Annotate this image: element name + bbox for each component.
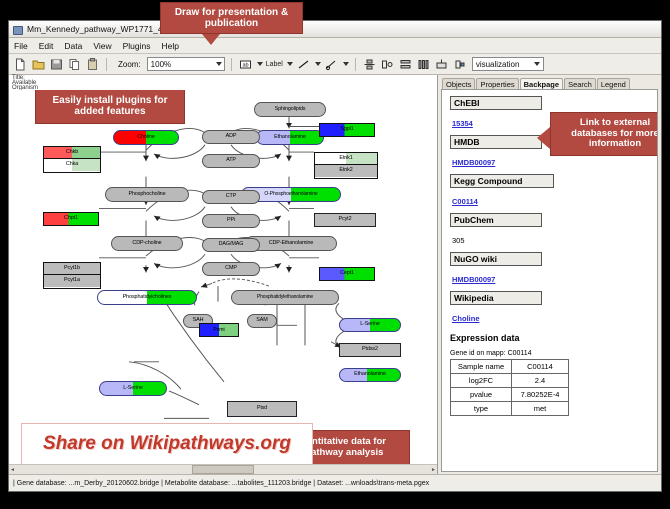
menu-plugins[interactable]: Plugins — [122, 41, 152, 51]
node-ethanolamine-right[interactable]: Ethanolamine — [339, 368, 401, 382]
status-bar: | Gene database: ...m_Derby_20120602.bri… — [9, 474, 661, 491]
toolbar: Zoom: 100% ab Label — [9, 54, 661, 75]
node-sam[interactable]: SAM — [247, 314, 277, 328]
menu-data[interactable]: Data — [63, 41, 83, 51]
backpage-content: ChEBI 15354 HMDB HMDB00097 Kegg Compound… — [441, 89, 658, 472]
copy-icon[interactable] — [67, 57, 82, 72]
gene-etnk2[interactable]: Etnk2 — [315, 165, 377, 177]
menu-help[interactable]: Help — [161, 41, 180, 51]
toolbar-separator — [106, 58, 107, 71]
callout-plugins: Easily install plugins for added feature… — [35, 90, 185, 124]
callout-draw: Draw for presentation & publication — [160, 2, 303, 34]
open-icon[interactable] — [31, 57, 46, 72]
node-cdp-choline[interactable]: CDP-choline — [111, 236, 183, 251]
gene-pcyt1b[interactable]: Pcyt1b — [44, 263, 100, 275]
gene-pisd[interactable]: Pisd — [227, 401, 297, 417]
distribute-icon[interactable] — [416, 57, 431, 72]
gene-chpt1[interactable]: Chpt1 — [43, 212, 99, 226]
callout-share-text: Share on Wikipathways.org — [43, 433, 291, 455]
section-header-wikipedia: Wikipedia — [450, 291, 542, 305]
section-header-chebi: ChEBI — [450, 96, 542, 110]
callout-draw-arrow — [202, 34, 220, 45]
cell-value: 2.4 — [512, 374, 569, 388]
main-content: Title: Available Organism — [9, 75, 661, 474]
node-cmp[interactable]: CMP — [202, 262, 260, 276]
node-atp[interactable]: ATP — [202, 154, 260, 168]
node-phosphatidylethanolamine[interactable]: Phosphatidylethanolamine — [231, 290, 339, 305]
group-icon[interactable] — [380, 57, 395, 72]
tab-properties[interactable]: Properties — [476, 78, 518, 89]
node-sphingolipids[interactable]: Sphingolipids — [254, 102, 326, 117]
zoom-value: 100% — [151, 60, 171, 69]
label-dropdown-icon[interactable] — [286, 57, 293, 71]
hmdb-link[interactable]: HMDB00097 — [452, 158, 495, 167]
visualization-value: visualization — [476, 60, 520, 69]
tab-objects[interactable]: Objects — [442, 78, 475, 89]
expression-data-title: Expression data — [450, 333, 657, 343]
sendback-icon[interactable] — [452, 57, 467, 72]
gene-pcyt1a[interactable]: Pcyt1a — [44, 275, 100, 287]
align-icon[interactable] — [362, 57, 377, 72]
section-header-hmdb: HMDB — [450, 135, 542, 149]
gene-group-etnk[interactable]: Etnk1 Etnk2 — [314, 152, 378, 179]
menu-bar: File Edit Data View Plugins Help — [9, 38, 661, 54]
node-phosphatidylcholines[interactable]: Phosphatidylcholines — [97, 290, 197, 305]
gene-sgpl1[interactable]: Sgpl1 — [319, 123, 375, 137]
menu-file[interactable]: File — [13, 41, 29, 51]
tab-search[interactable]: Search — [564, 78, 596, 89]
gene-chka[interactable]: Chka — [44, 159, 100, 171]
node-ppi[interactable]: PPi — [202, 214, 260, 228]
gene-group-pcyt1[interactable]: Pcyt1b Pcyt1a — [43, 262, 101, 289]
gene-pemt[interactable]: Pemt — [199, 323, 239, 337]
cell-value: 7.80252E-4 — [512, 388, 569, 402]
table-row: pvalue 7.80252E-4 — [451, 388, 569, 402]
paste-icon[interactable] — [85, 57, 100, 72]
datanode-icon[interactable]: ab — [238, 57, 253, 72]
line-icon[interactable] — [296, 57, 311, 72]
section-header-nugo: NuGO wiki — [450, 252, 542, 266]
gene-etnk1[interactable]: Etnk1 — [315, 153, 377, 165]
cell-key: type — [451, 402, 512, 416]
node-l-serine-right[interactable]: L-Serine — [339, 318, 401, 332]
side-panel-tabs: Objects Properties Backpage Search Legen… — [438, 75, 661, 89]
menu-edit[interactable]: Edit — [38, 41, 55, 51]
pathway-canvas[interactable]: Sphingolipids Choline Ethanolamine ADP A… — [9, 90, 437, 464]
tab-legend[interactable]: Legend — [597, 78, 630, 89]
cell-value: C00114 — [512, 360, 569, 374]
table-row: Sample name C00114 — [451, 360, 569, 374]
kegg-link[interactable]: C00114 — [452, 197, 478, 206]
node-l-serine-left[interactable]: L-Serine — [99, 381, 167, 396]
cell-key: Sample name — [451, 360, 512, 374]
table-row: log2FC 2.4 — [451, 374, 569, 388]
zoom-label: Zoom: — [118, 60, 141, 69]
side-panel: Objects Properties Backpage Search Legen… — [438, 75, 661, 474]
callout-links-arrow — [537, 127, 550, 149]
gene-chkb[interactable]: Chkb — [44, 147, 100, 159]
gene-cept1[interactable]: Cept1 — [319, 267, 375, 281]
node-ctp[interactable]: CTP — [202, 190, 260, 204]
pubchem-value: 305 — [452, 236, 465, 245]
table-row: type met — [451, 402, 569, 416]
callout-share: Share on Wikipathways.org — [21, 423, 313, 464]
node-choline-top[interactable]: Choline — [113, 130, 179, 145]
wikipedia-link[interactable]: Choline — [452, 314, 480, 323]
gene-id-line: Gene id on mapp: C00114 — [450, 350, 657, 357]
chevron-down-icon — [534, 62, 540, 66]
app-icon — [12, 24, 23, 35]
save-icon[interactable] — [49, 57, 64, 72]
datanode-dropdown-icon[interactable] — [256, 57, 263, 71]
gene-ptdss2[interactable]: Ptdss2 — [339, 343, 401, 357]
nugo-link[interactable]: HMDB00097 — [452, 275, 495, 284]
scroll-right-icon[interactable]: ► — [431, 467, 436, 473]
visualization-select[interactable]: visualization — [472, 57, 544, 71]
chevron-down-icon — [216, 62, 222, 66]
hscroll-thumb[interactable] — [192, 465, 254, 474]
status-text: | Gene database: ...m_Derby_20120602.bri… — [13, 480, 429, 487]
toolbar-separator — [231, 58, 232, 71]
title-bar: Mm_Kennedy_pathway_WP1771_45176.gpml — [9, 21, 661, 38]
cell-key: log2FC — [451, 374, 512, 388]
node-adp[interactable]: ADP — [202, 130, 260, 144]
pathway-info-header: Title: Available Organism — [9, 75, 437, 90]
gene-group-chk[interactable]: Chkb Chka — [43, 146, 101, 173]
menu-view[interactable]: View — [92, 41, 112, 51]
pathway-editor: Title: Available Organism — [9, 75, 438, 474]
canvas-hscrollbar[interactable]: ◄ ► — [9, 464, 437, 474]
node-ethanolamine[interactable]: Ethanolamine — [256, 130, 324, 145]
callout-links: Link to external databases for more info… — [550, 112, 658, 156]
expression-table: Sample name C00114 log2FC 2.4 pvalue 7.8… — [450, 359, 569, 416]
section-header-kegg: Kegg Compound — [450, 174, 554, 188]
svg-text:ab: ab — [242, 62, 248, 68]
section-header-pubchem: PubChem — [450, 213, 542, 227]
anchor-dropdown-icon[interactable] — [342, 57, 349, 71]
line-dropdown-icon[interactable] — [314, 57, 321, 71]
bringfront-icon[interactable] — [434, 57, 449, 72]
cell-value: met — [512, 402, 569, 416]
gene-pcyt2[interactable]: Pcyt2 — [314, 213, 376, 227]
node-phosphocholine[interactable]: Phosphocholine — [105, 187, 189, 202]
cell-key: pvalue — [451, 388, 512, 402]
anchor-icon[interactable] — [324, 57, 339, 72]
scroll-left-icon[interactable]: ◄ — [10, 467, 15, 473]
label-icon[interactable]: Label — [266, 61, 283, 68]
chebi-link[interactable]: 15354 — [452, 119, 473, 128]
stack-icon[interactable] — [398, 57, 413, 72]
toolbar-separator — [355, 58, 356, 71]
new-icon[interactable] — [13, 57, 28, 72]
node-dag-mag[interactable]: DAG/MAG — [202, 238, 260, 252]
pathvisio-window: Mm_Kennedy_pathway_WP1771_45176.gpml Fil… — [8, 20, 662, 492]
zoom-select[interactable]: 100% — [147, 57, 225, 71]
